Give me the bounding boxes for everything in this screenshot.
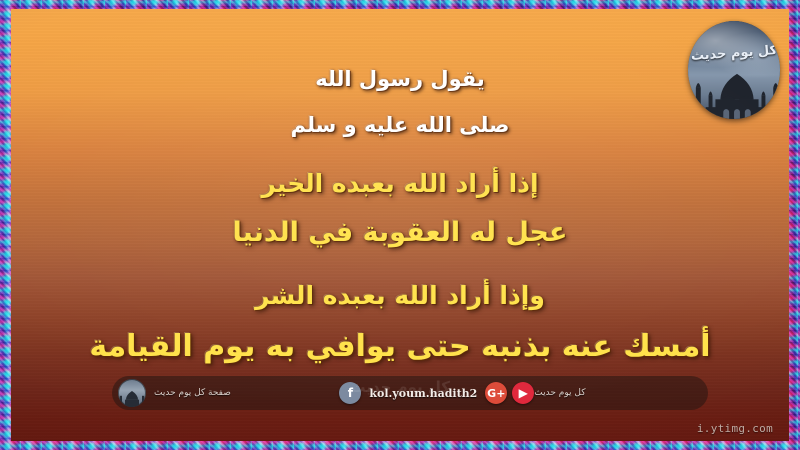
footer-social-bar: كل يوم حديث صفحة كل يوم حديث f kol.youm.…: [112, 376, 708, 410]
poster-background: كل يوم حديث يقول رسول الله صلى الله عليه…: [11, 9, 789, 441]
source-watermark: i.ytimg.com: [697, 422, 773, 435]
quote-line-2: صلى الله عليه و سلم: [151, 113, 649, 137]
hadith-image-canvas: كل يوم حديث يقول رسول الله صلى الله عليه…: [0, 0, 800, 450]
quote-line-1: يقول رسول الله: [151, 67, 649, 91]
google-plus-icon[interactable]: G+: [485, 382, 507, 404]
mosque-avatar-icon: [118, 390, 146, 407]
youtube-icon[interactable]: ▶: [512, 382, 534, 404]
quote-line-5: وإذا أراد الله بعبده الشر: [111, 281, 689, 310]
mosque-icon: [688, 66, 780, 119]
quote-line-6: أمسك عنه بذنبه حتى يوافي به يوم القيامة: [31, 329, 769, 364]
facebook-handle[interactable]: kol.youm.hadith2: [369, 387, 477, 400]
channel-label: كل يوم حديث: [534, 388, 585, 398]
quote-line-4: عجل له العقوبة في الدنيا: [111, 217, 689, 248]
quote-line-3: إذا أراد الله بعبده الخير: [131, 169, 669, 198]
page-label: صفحة كل يوم حديث: [154, 388, 231, 398]
facebook-icon[interactable]: f: [339, 382, 361, 404]
channel-logo-badge: كل يوم حديث: [688, 21, 780, 119]
page-avatar[interactable]: [118, 379, 146, 407]
